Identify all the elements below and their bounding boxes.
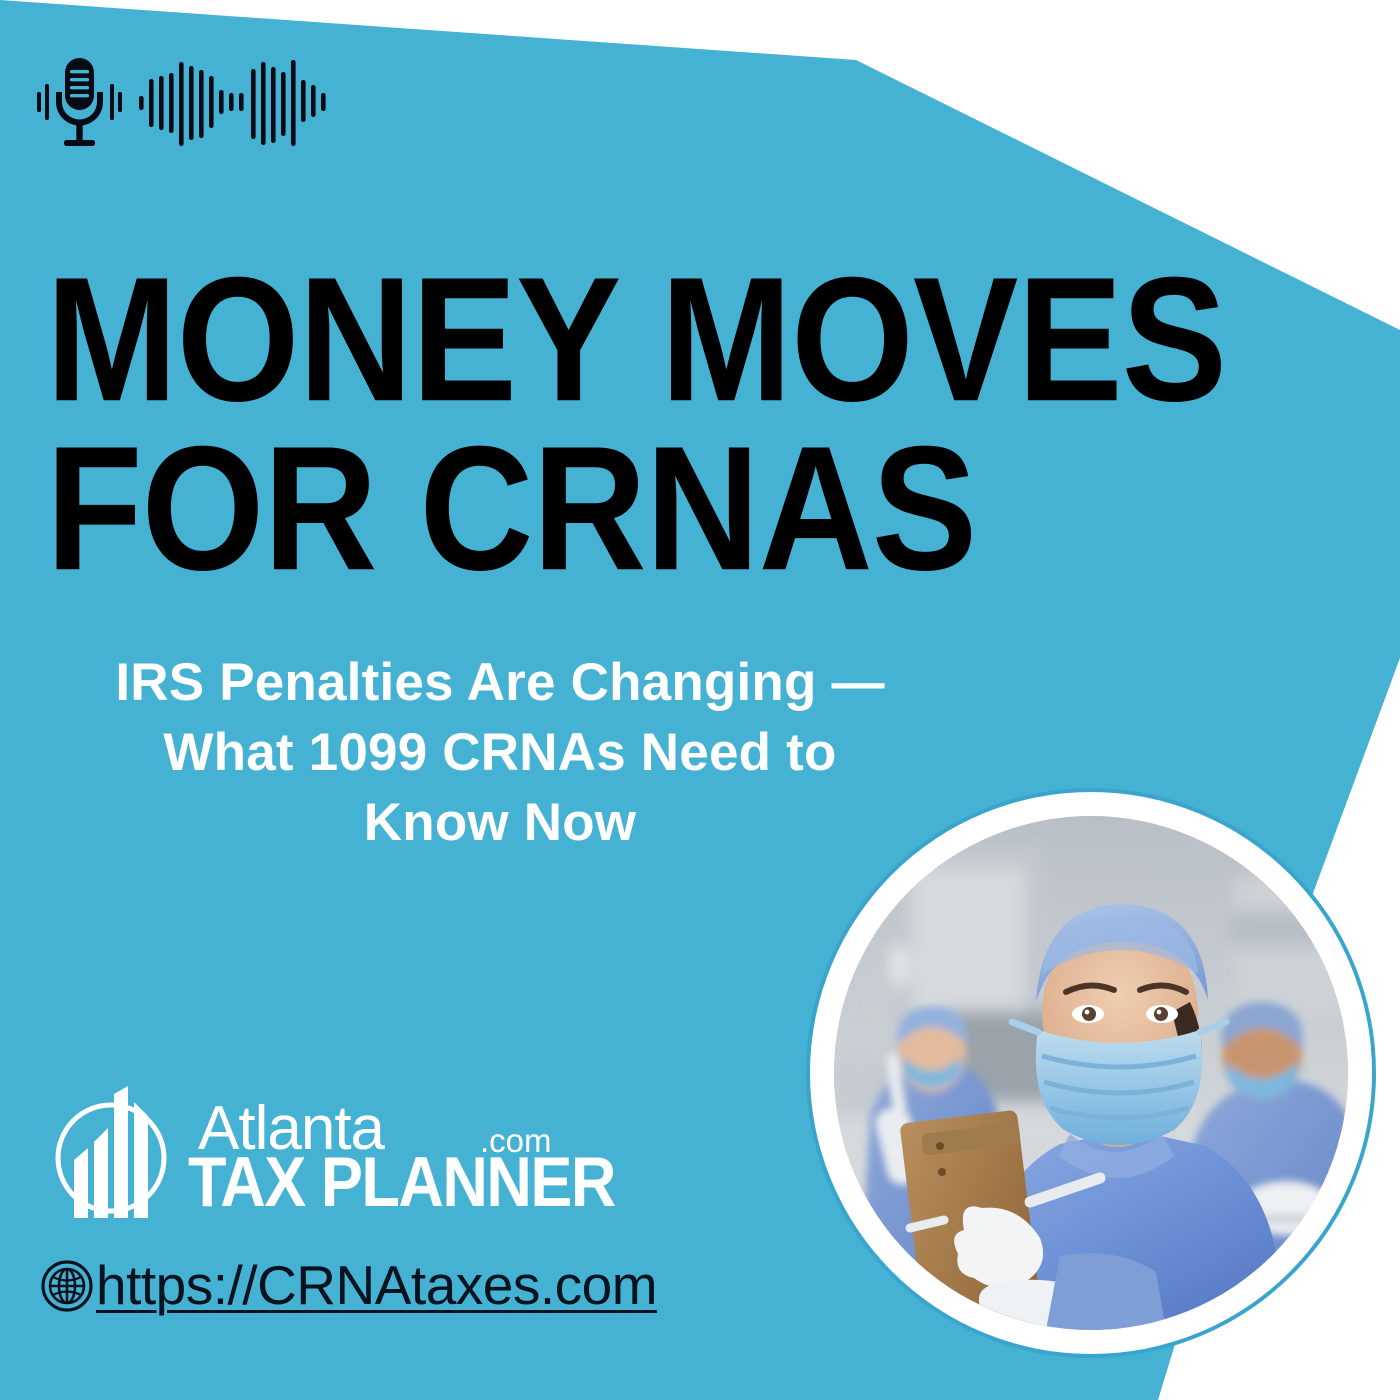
brand-word-taxplanner: TAX PLANNER [188,1148,615,1219]
photo-image [834,816,1348,1330]
audio-waveform-icon [139,60,326,146]
headline-line-1: MONEY MOVES [46,258,1166,423]
brand-wordmark: Atlanta .com TAX PLANNER [188,1086,568,1218]
operating-room-photo [834,816,1348,1330]
brand-logo[interactable]: Atlanta .com TAX PLANNER [48,1082,568,1218]
headline-line-2: FOR CRNAS [46,427,1166,592]
poster-canvas: MONEY MOVES FOR CRNAS IRS Penalties Are … [0,0,1400,1400]
host-photo-circle [806,788,1376,1358]
page-title: MONEY MOVES FOR CRNAS [46,258,1166,574]
globe-icon [40,1259,94,1313]
website-link[interactable]: https://CRNAtaxes.com [40,1258,657,1313]
website-url-text[interactable]: https://CRNAtaxes.com [96,1258,657,1313]
podcast-audio-icon-group [36,52,346,152]
subtitle-line-2: What 1099 CRNAs Need to [50,718,950,788]
subtitle-line-1: IRS Penalties Are Changing — [50,648,950,718]
microphone-icon [37,58,122,146]
city-skyline-circle-icon [48,1086,180,1218]
